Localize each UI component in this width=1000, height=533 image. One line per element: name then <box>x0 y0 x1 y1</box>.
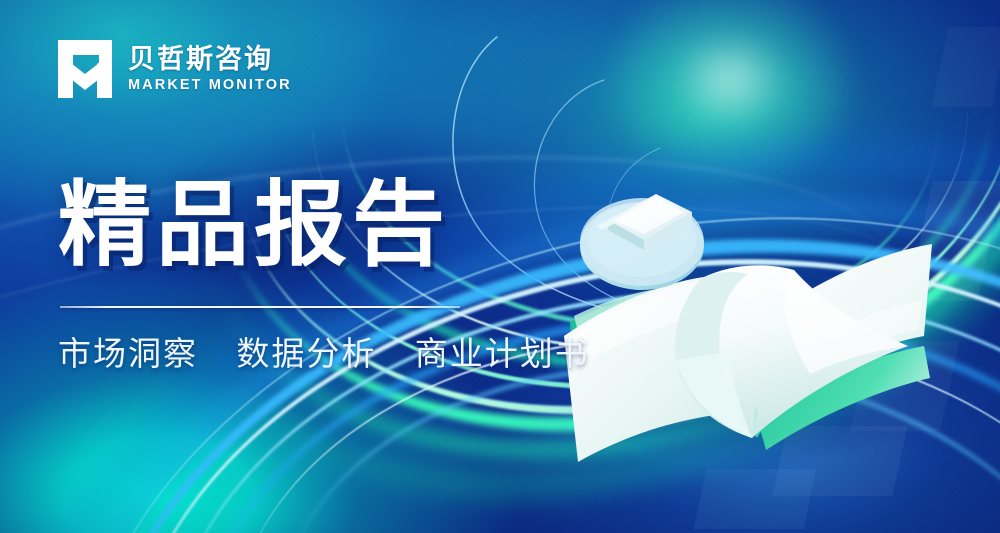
subtitle-part-2: 数据分析 <box>236 335 376 372</box>
brand-name-en: MARKET MONITOR <box>128 78 292 93</box>
brand-logo[interactable]: 贝哲斯咨询 MARKET MONITOR <box>56 38 292 100</box>
title-divider <box>60 306 460 308</box>
open-book-illustration <box>552 150 952 470</box>
subtitle-part-3: 商业计划书 <box>415 335 590 372</box>
brand-name-cn: 贝哲斯咨询 <box>128 46 292 73</box>
brand-logo-text: 贝哲斯咨询 MARKET MONITOR <box>128 46 292 93</box>
report-banner: 贝哲斯咨询 MARKET MONITOR 精品报告 市场洞察 数据分析 商业计划… <box>0 0 1000 533</box>
page-title: 精品报告 <box>58 176 450 275</box>
market-monitor-m-mark-icon <box>56 38 114 100</box>
subtitle-part-1: 市场洞察 <box>58 335 198 372</box>
page-subtitle: 市场洞察 数据分析 商业计划书 <box>58 333 590 374</box>
